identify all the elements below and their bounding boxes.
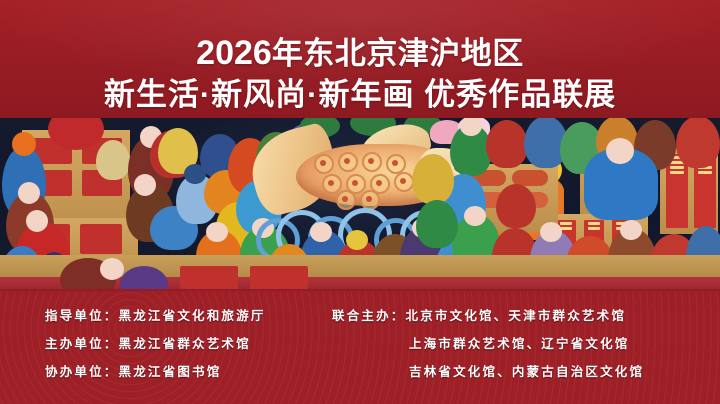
poster-title-line-2: 新生活·新风尚·新年画 优秀作品联展	[0, 78, 720, 112]
credit-row: 主办单位：黑龙江省群众艺术馆	[45, 336, 266, 364]
poster-root: 2026年东北京津沪地区 新生活·新风尚·新年画 优秀作品联展	[0, 0, 720, 404]
title-year: 2026	[196, 34, 272, 72]
carp-scale	[338, 152, 358, 172]
carp-scale	[394, 172, 414, 192]
credit-value: 黑龙江省图书馆	[119, 364, 222, 380]
crowd-figure-face	[206, 222, 228, 242]
credit-label: 协办单位：	[45, 364, 119, 380]
crowd-figure	[496, 184, 536, 228]
credit-label: 指导单位：	[45, 308, 119, 324]
crowd-figure-face	[310, 222, 332, 242]
crowd-figure	[486, 120, 528, 168]
crowd-figure	[676, 118, 720, 168]
credit-value: 黑龙江省群众艺术馆	[119, 336, 251, 352]
credit-value: 上海市群众艺术馆、辽宁省文化馆	[409, 336, 630, 352]
crowd-figure-head	[346, 230, 368, 250]
carp-scale	[314, 154, 334, 174]
credit-label: 联合主办：	[332, 308, 406, 324]
crowd-figure-face	[18, 182, 40, 204]
print-card	[80, 224, 122, 254]
crowd-figure-face	[26, 210, 48, 232]
crowd-figure-head	[12, 132, 36, 156]
poster-artwork	[0, 118, 720, 289]
poster-title-line-1: 2026年东北京津沪地区	[0, 36, 720, 71]
crowd-figure-face	[540, 222, 562, 242]
crowd-figure-face	[606, 138, 634, 164]
footer-top-edge	[0, 289, 720, 292]
crowd-figure-face	[134, 174, 156, 196]
credit-row: 联合主办：北京市文化馆、天津市群众艺术馆	[332, 308, 644, 336]
crowd-figure	[416, 200, 458, 248]
print-card	[180, 266, 238, 289]
credit-value: 北京市文化馆、天津市群众艺术馆	[406, 308, 627, 324]
credit-value: 吉林省文化馆、内蒙古自治区文化馆	[409, 364, 644, 380]
credits-column-right: 联合主办：北京市文化馆、天津市群众艺术馆 上海市群众艺术馆、辽宁省文化馆 吉林省…	[332, 308, 644, 392]
crowd-figure-face	[100, 258, 124, 280]
crowd-figure-face	[620, 220, 642, 240]
print-card	[250, 266, 308, 289]
credit-row: 协办单位：黑龙江省图书馆	[45, 364, 266, 392]
credit-value: 黑龙江省文化和旅游厅	[119, 308, 266, 324]
credit-label: 主办单位：	[45, 336, 119, 352]
title-region: 年东北京津沪地区	[272, 36, 524, 71]
crowd-figure	[412, 154, 454, 204]
credits-column-left: 指导单位：黑龙江省文化和旅游厅 主办单位：黑龙江省群众艺术馆 协办单位：黑龙江省…	[45, 308, 266, 392]
carp-scale	[386, 154, 406, 174]
poster-header: 2026年东北京津沪地区 新生活·新风尚·新年画 优秀作品联展	[0, 0, 720, 118]
credit-row: 上海市群众艺术馆、辽宁省文化馆	[332, 336, 644, 364]
crowd-figure-face	[464, 206, 486, 226]
credit-row: 吉林省文化馆、内蒙古自治区文化馆	[332, 364, 644, 392]
credit-row: 指导单位：黑龙江省文化和旅游厅	[45, 308, 266, 336]
crowd-figure	[96, 140, 130, 180]
carp-scale	[362, 152, 382, 172]
